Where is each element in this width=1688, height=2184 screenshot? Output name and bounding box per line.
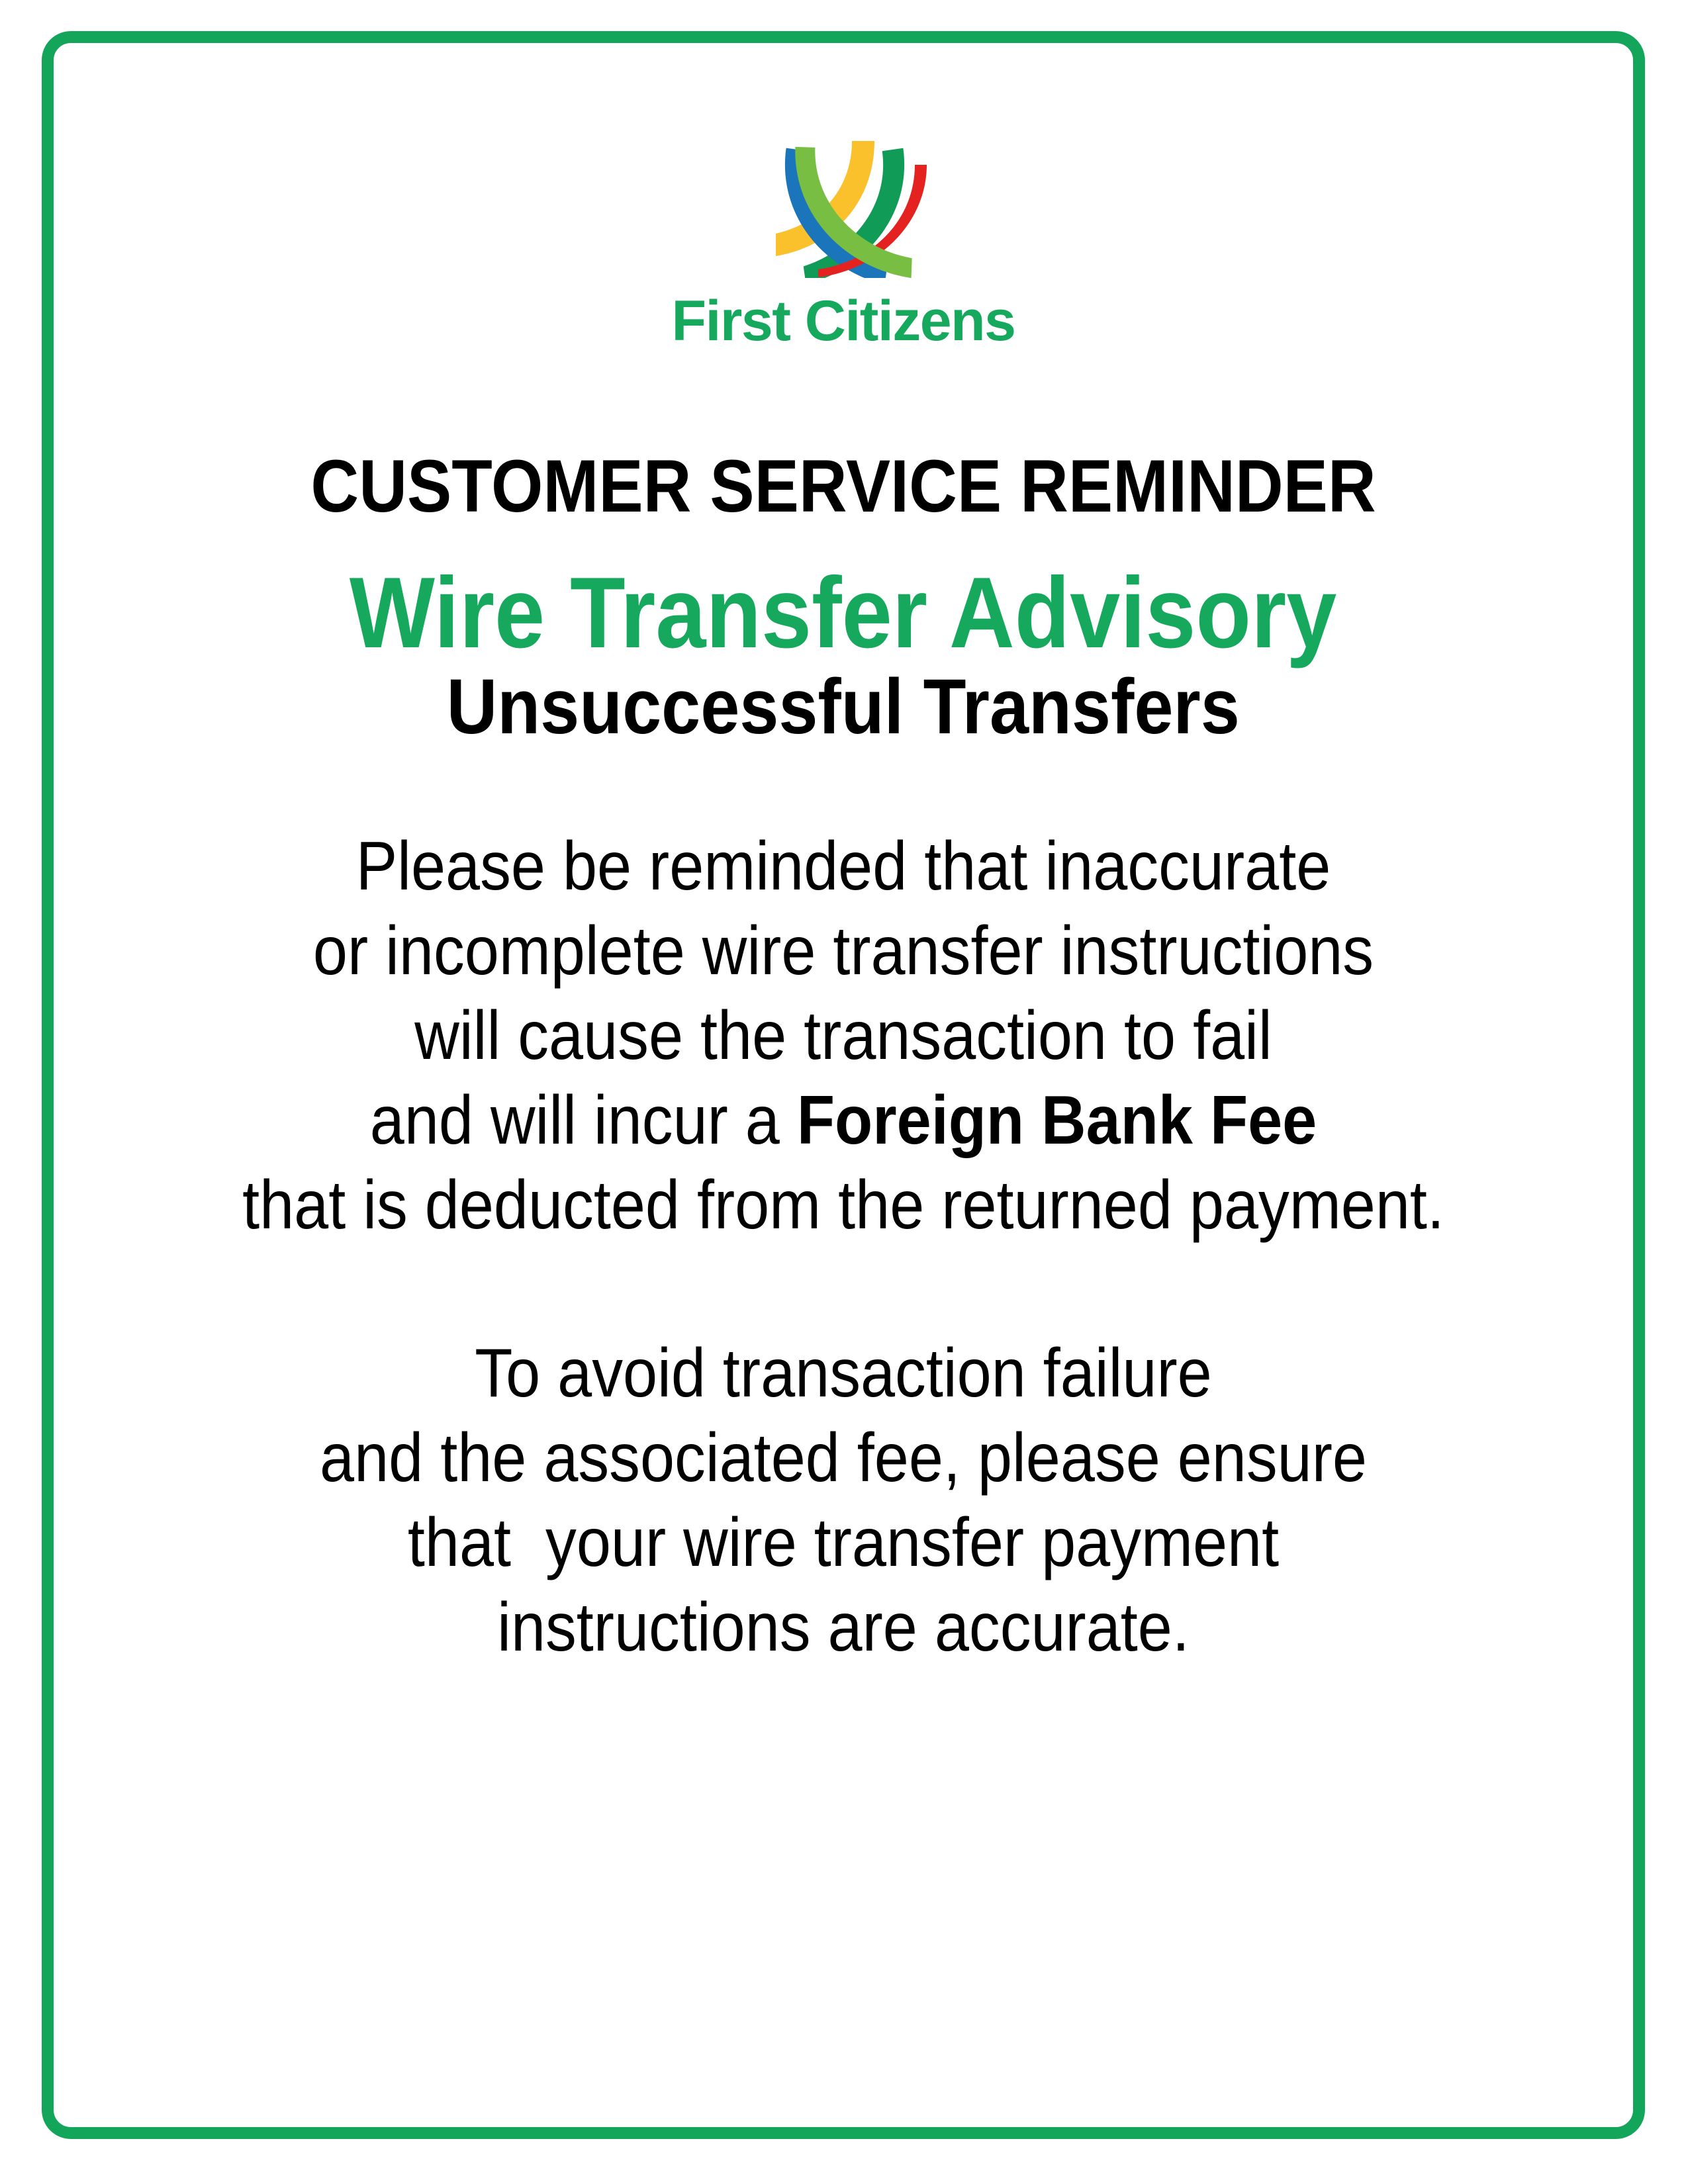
paragraph-two: To avoid transaction failure and the ass… (54, 1331, 1633, 1670)
body-text: and will incur a (370, 1082, 797, 1159)
brand-logo: First Citizens (672, 136, 1015, 349)
eyebrow-heading: CUSTOMER SERVICE REMINDER (310, 449, 1376, 524)
body-line: that your wire transfer payment (132, 1500, 1554, 1585)
body-line: and the associated fee, please ensure (132, 1416, 1554, 1500)
foreign-bank-fee-emphasis: Foreign Bank Fee (797, 1082, 1317, 1159)
brand-wordmark: First Citizens (672, 293, 1015, 349)
body-line: To avoid transaction failure (132, 1331, 1554, 1416)
page-subtitle: Unsuccessful Transfers (447, 667, 1240, 747)
body-line: or incomplete wire transfer instructions (132, 909, 1554, 993)
body-line: Please be reminded that inaccurate (132, 824, 1554, 909)
first-citizens-interlocking-arcs-logo (744, 136, 943, 278)
body-line: instructions are accurate. (132, 1585, 1554, 1670)
body-line-with-emphasis: and will incur a Foreign Bank Fee (132, 1078, 1554, 1163)
paragraph-spacer (54, 1248, 1633, 1331)
notice-page: First Citizens CUSTOMER SERVICE REMINDER… (0, 0, 1688, 2184)
page-title: Wire Transfer Advisory (350, 563, 1336, 663)
notice-body: Please be reminded that inaccurate or in… (54, 824, 1633, 1670)
body-line: will cause the transaction to fail (132, 993, 1554, 1078)
paragraph-one: Please be reminded that inaccurate or in… (54, 824, 1633, 1248)
notice-content: First Citizens CUSTOMER SERVICE REMINDER… (54, 43, 1633, 2127)
body-line: that is deducted from the returned payme… (132, 1163, 1554, 1248)
